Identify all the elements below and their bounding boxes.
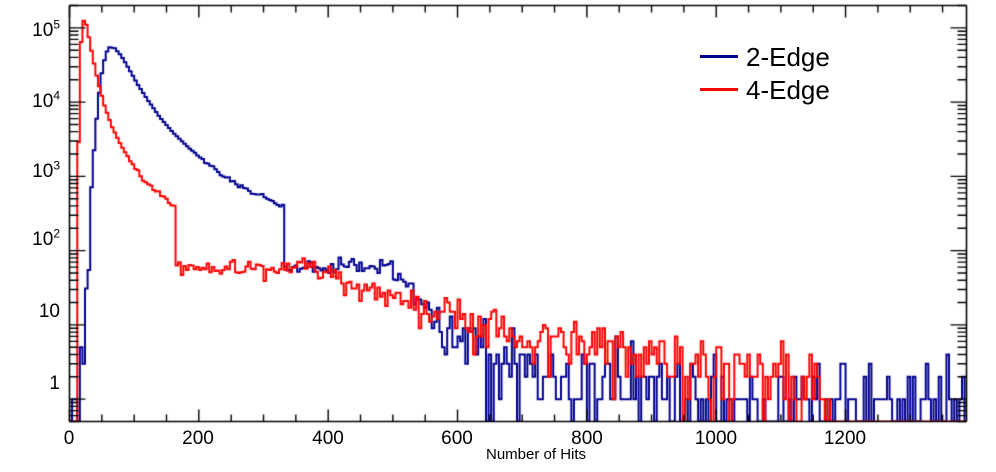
xtick-label-200: 200 <box>168 428 228 450</box>
legend-swatch-2-edge <box>700 55 738 58</box>
ytick-label-1e2: 102 <box>4 229 60 251</box>
xtick-label-1000: 1000 <box>686 428 746 450</box>
xtick-label-400: 400 <box>298 428 358 450</box>
ytick-label-10: 10 <box>4 301 60 323</box>
legend-label-4-edge: 4-Edge <box>746 77 830 103</box>
legend: 2-Edge 4-Edge <box>700 40 900 106</box>
legend-entry-4-edge: 4-Edge <box>700 73 900 106</box>
xtick-label-600: 600 <box>427 428 487 450</box>
legend-entry-2-edge: 2-Edge <box>700 40 900 73</box>
legend-label-2-edge: 2-Edge <box>746 44 830 70</box>
chart-root: 105 104 103 102 10 1 0 200 400 600 800 1… <box>0 0 996 472</box>
legend-swatch-4-edge <box>700 88 738 91</box>
ytick-label-1: 1 <box>4 373 60 395</box>
xtick-label-1200: 1200 <box>815 428 875 450</box>
ytick-label-1e4: 104 <box>4 91 60 113</box>
x-axis-title: Number of Hits <box>486 446 586 463</box>
ytick-label-1e3: 103 <box>4 161 60 183</box>
ytick-label-1e5: 105 <box>4 20 60 42</box>
xtick-label-0: 0 <box>39 428 99 450</box>
